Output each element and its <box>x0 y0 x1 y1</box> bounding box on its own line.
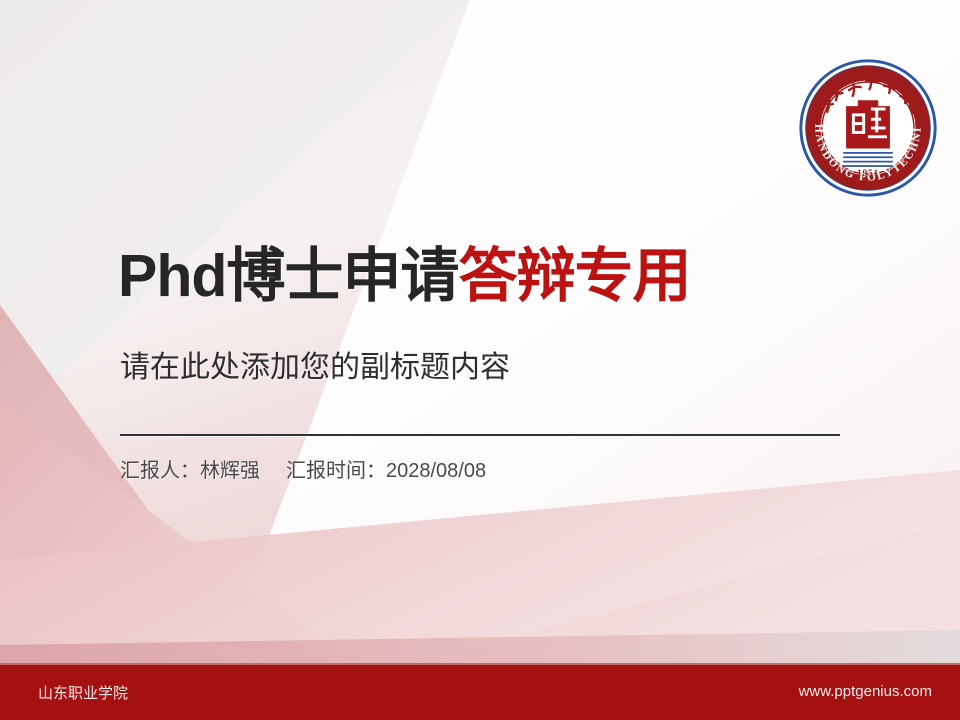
page-subtitle: 请在此处添加您的副标题内容 <box>120 350 510 386</box>
footer-website[interactable]: www.pptgenius.com <box>799 683 932 700</box>
logo-founded-year: 1951 <box>857 169 879 179</box>
footer-bar: 山东职业学院 www.pptgenius.com <box>0 663 960 720</box>
title-accent: 答辩专用 <box>458 243 690 309</box>
university-logo: SHANDONG POLYTECHNIC <box>795 55 941 201</box>
presenter-label: 汇报人：林辉强 <box>120 460 260 482</box>
title-divider <box>120 434 840 436</box>
byline: 汇报人：林辉强汇报时间：2028/08/08 <box>120 454 486 483</box>
date-label: 汇报时间：2028/08/08 <box>286 460 486 482</box>
page-title: Phd博士申请答辩专用 <box>118 246 690 307</box>
presentation-slide: SHANDONG POLYTECHNIC <box>0 0 960 720</box>
title-primary: Phd博士申请 <box>118 243 458 309</box>
footer-institution: 山东职业学院 <box>38 682 128 703</box>
